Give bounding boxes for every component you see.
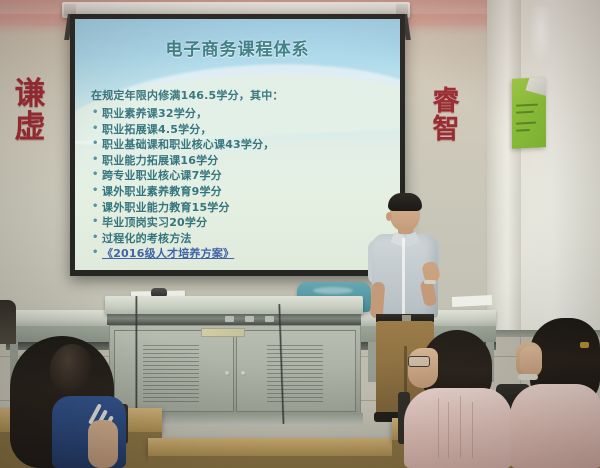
student-center-torso: [404, 388, 512, 468]
slide-hyperlink-bullet[interactable]: 《2016级人才培养方案》: [89, 246, 392, 262]
podium-id-label: [201, 328, 245, 337]
slide-bullet: 课外职业素养教育9学分: [89, 184, 392, 200]
door-handle[interactable]: [225, 371, 230, 376]
tape-residue: [530, 6, 552, 64]
slide-lead-text: 在规定年限内修满146.5学分，其中：: [91, 87, 392, 103]
wall-slogan-right-char-1: 睿: [424, 88, 468, 116]
presenter-hair: [388, 193, 422, 211]
student-desk-center-front: [148, 456, 398, 468]
presenter-shirt-placket: [402, 238, 405, 314]
wall-slogan-right-char-2: 智: [424, 116, 468, 144]
chair-highlight: [313, 287, 353, 294]
student-center-face: [408, 348, 438, 388]
podium-top-surface: [105, 296, 363, 314]
slide-bullet: 职业能力拓展课16学分: [89, 153, 392, 169]
slide-bullet: 课外职业能力教育15学分: [89, 200, 392, 216]
poster-text-line: [516, 129, 530, 132]
wall-slogan-left-char-2: 虚: [6, 111, 54, 144]
wall-slogan-left: 谦 虚: [6, 78, 54, 143]
slide-bullet: 职业拓展课4.5学分，: [89, 122, 392, 138]
slide-body: 在规定年限内修满146.5学分，其中： 职业素养课32学分， 职业拓展课4.5学…: [89, 87, 392, 262]
poster-text-line: [516, 104, 538, 107]
green-notice-poster: [512, 77, 546, 149]
projection-screen: 电子商务课程体系 在规定年限内修满146.5学分，其中： 职业素养课32学分， …: [70, 14, 405, 276]
slide-bullet: 职业素养课32学分，: [89, 106, 392, 122]
presenter-wristwatch: [424, 280, 436, 284]
handout-paper: [452, 295, 492, 307]
eyeglasses: [408, 356, 430, 367]
hair-clip: [580, 342, 589, 348]
student-right-torso: [510, 384, 600, 468]
poster-text-line: [516, 122, 536, 125]
student-center-right: [396, 330, 522, 468]
classroom-photo-scene: 谦 虚 睿 智 电子商务课程体系 在规定年限内修满146.5学分，其中： 职业素…: [0, 0, 600, 468]
rail-knob: [265, 316, 274, 322]
student-right: [506, 318, 600, 468]
podium-cabinet: [109, 325, 361, 415]
presenter-ear: [386, 212, 392, 221]
poster-curl: [525, 77, 546, 96]
student-right-wristwatch: [518, 374, 538, 380]
poster-text-line: [516, 111, 534, 114]
slide-title: 电子商务课程体系: [75, 35, 400, 60]
hair-highlight: [50, 344, 94, 396]
wall-slogan-right: 睿 智: [424, 88, 468, 145]
rail-knob: [245, 316, 254, 322]
slide-bullet: 职业基础课和职业核心课43学分，: [89, 137, 392, 153]
podium-equipment-rail: [107, 314, 361, 325]
slide-bullet: 跨专业职业核心课7学分: [89, 168, 392, 184]
slide-bullet-list: 职业素养课32学分， 职业拓展课4.5学分， 职业基础课和职业核心课43学分， …: [89, 106, 392, 262]
slide-bullet: 毕业顶岗实习20学分: [89, 215, 392, 231]
slide-surface: 电子商务课程体系 在规定年限内修满146.5学分，其中： 职业素养课32学分， …: [75, 19, 400, 270]
podium-door-right[interactable]: [236, 330, 356, 412]
student-right-hand: [520, 346, 542, 376]
slide-bullet: 过程化的考核方法: [89, 231, 392, 247]
wall-pillar: [487, 0, 521, 332]
student-left: [0, 336, 142, 468]
student-desk-center: [148, 438, 398, 456]
rail-knob: [225, 316, 234, 322]
door-handle[interactable]: [241, 371, 246, 376]
student-left-arm: [88, 420, 118, 468]
wall-slogan-left-char-1: 谦: [6, 78, 54, 111]
presenter-arm-left: [370, 282, 385, 319]
